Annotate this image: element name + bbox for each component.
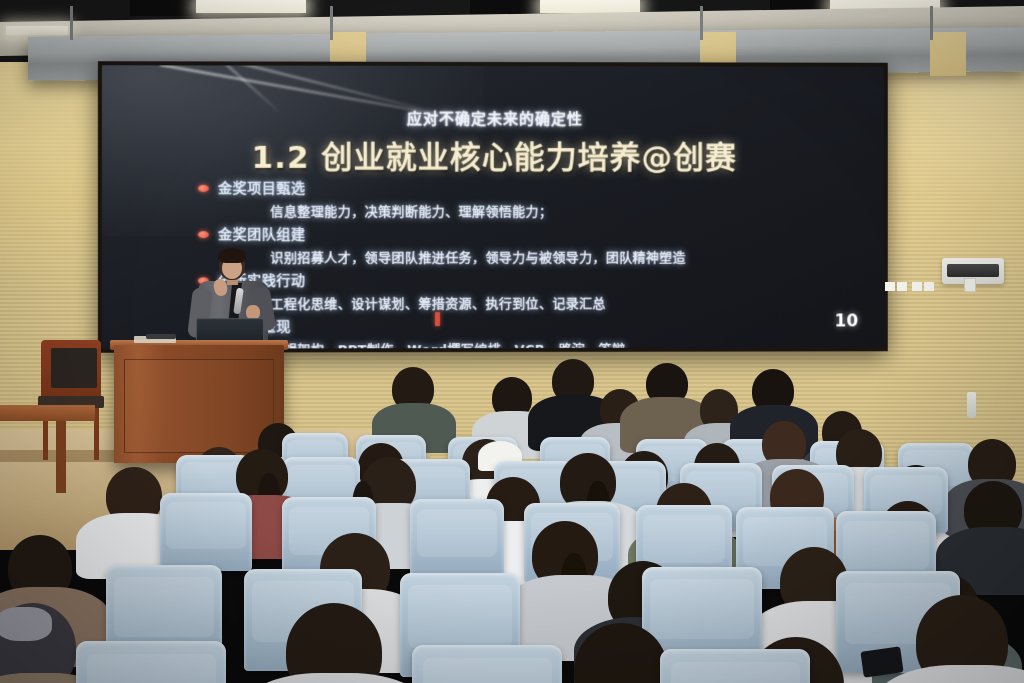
ceiling-light-icon-1	[196, 0, 306, 13]
audience-hair-clip-icon	[0, 607, 52, 641]
slide-bullet-heading-wrap: 金奖项目甄选	[198, 178, 864, 198]
seat[interactable]	[410, 499, 504, 579]
slide-bullet-row: 创新实践行动 工程化思维、设计谋划、筹措资源、执行到位、记录汇总	[198, 270, 864, 313]
beam-gap-3	[930, 32, 966, 76]
audience	[0, 355, 1024, 683]
wall-socket	[964, 278, 976, 292]
beam-hanger-1	[70, 6, 73, 40]
wall-sign	[885, 282, 936, 291]
slide-title: 1.2 创业就业核心能力培养@创赛	[102, 132, 884, 178]
ceiling-light-icon-4	[6, 26, 68, 35]
sign-chip	[924, 282, 934, 291]
slide-bullet-row: 金奖项目甄选 信息整理能力，决策判断能力、理解领悟能力；	[198, 178, 864, 220]
screen-glare-streak-3	[188, 65, 279, 111]
speaker-hair	[218, 248, 246, 263]
slide-bullet-heading: 金奖团队组建	[218, 224, 306, 244]
smartphone-icon	[860, 646, 903, 677]
slide-bullet-list: 金奖项目甄选 信息整理能力，决策判断能力、理解领悟能力； 金奖团队组建 识别招募…	[198, 178, 864, 349]
slide-bullet-heading-wrap: 创新实践行动	[198, 270, 864, 291]
slide-bullet-heading-wrap: 金奖团队组建	[198, 224, 864, 244]
slide-bullet-row: 金奖团队组建 识别招募人才，领导团队推进任务，领导力与被领导力，团队精神塑造	[198, 224, 864, 266]
sign-chip	[912, 282, 922, 291]
seat[interactable]	[160, 493, 252, 571]
ac-vent	[947, 264, 999, 277]
ceiling-light-icon-2	[540, 0, 640, 13]
slide-bullet-heading: 金奖项目甄选	[218, 178, 306, 198]
seat[interactable]	[412, 645, 562, 683]
slide-bullet-body: 逻辑架构、PPT制作，Word撰写编排，VCR，路演，答辩	[270, 338, 864, 348]
slide-page-number: 10	[835, 311, 858, 331]
slide-red-cursor-mark	[435, 312, 440, 326]
mic-stand	[146, 334, 176, 339]
beam-hanger-4	[930, 6, 933, 40]
beam-hanger-2	[330, 6, 333, 40]
seat[interactable]	[76, 641, 226, 683]
slide-bullet-body: 工程化思维、设计谋划、筹措资源、执行到位、记录汇总	[270, 293, 864, 313]
slide-bullet-row: 秀表达呈现 逻辑架构、PPT制作，Word撰写编排，VCR，路演，答辩	[198, 315, 864, 348]
sign-chip	[897, 282, 907, 291]
slide-bullet-body: 信息整理能力，决策判断能力、理解领悟能力；	[270, 201, 864, 220]
slide-bullet-heading-wrap: 秀表达呈现	[218, 315, 864, 336]
lecture-hall-photo: 应对不确定未来的确定性 1.2 创业就业核心能力培养@创赛 金奖项目甄选 信息整…	[0, 0, 1024, 683]
bullet-dot-icon	[198, 184, 209, 191]
slide-subtitle: 应对不确定未来的确定性	[102, 107, 884, 129]
slide-bullet-body: 识别招募人才，领导团队推进任务，领导力与被领导力，团队精神塑造	[270, 247, 864, 266]
bullet-dot-icon	[198, 231, 209, 238]
beam-hanger-3	[700, 6, 703, 40]
seat[interactable]	[660, 649, 810, 683]
sign-chip	[885, 282, 895, 291]
